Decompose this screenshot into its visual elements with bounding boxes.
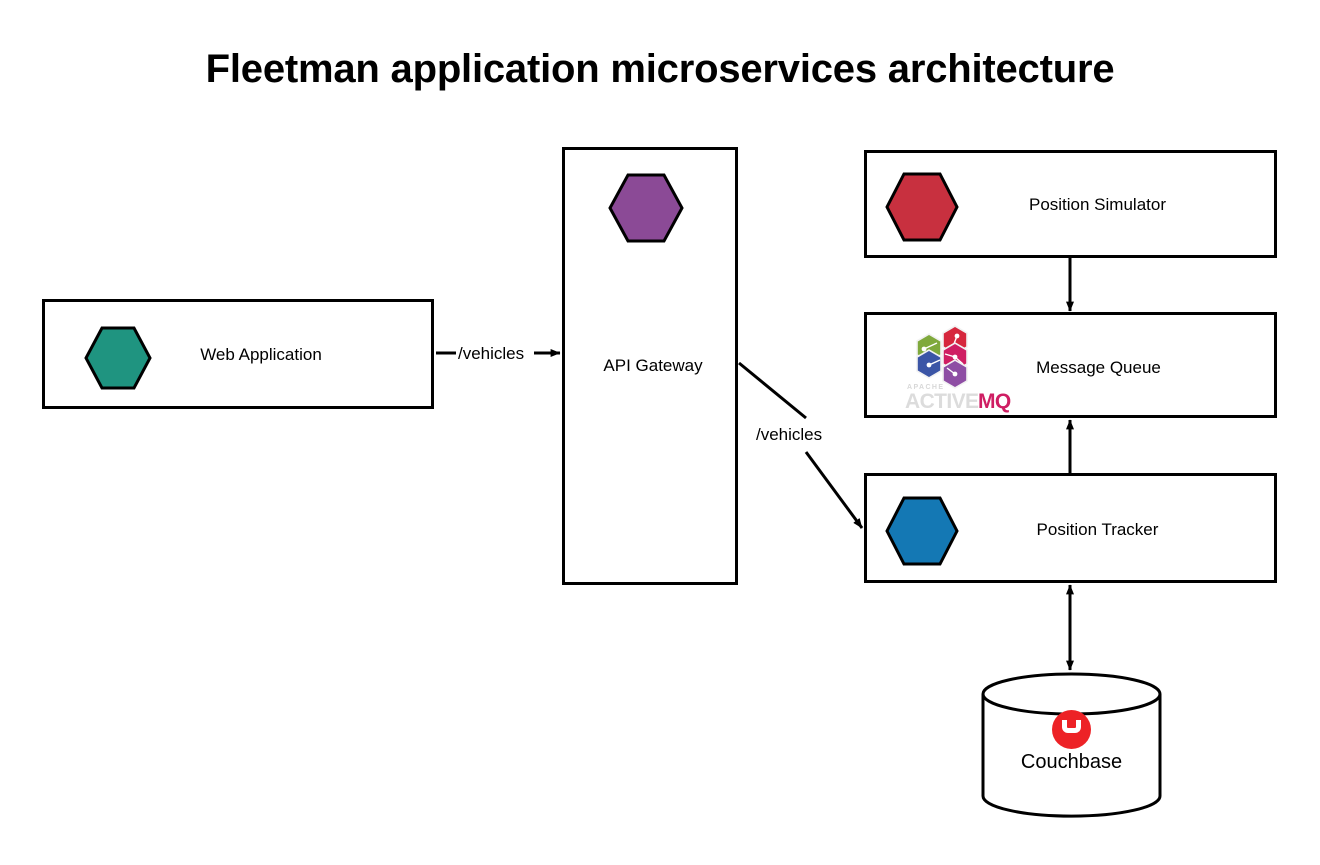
node-label-message-queue: Message Queue xyxy=(867,358,1280,378)
diagram-canvas: Fleetman application microservices archi… xyxy=(0,0,1320,865)
node-label-couchbase: Couchbase xyxy=(980,751,1163,774)
node-position-simulator[interactable]: Position Simulator xyxy=(864,150,1277,258)
node-api-gateway[interactable]: API Gateway xyxy=(562,147,738,585)
activemq-active-text: ACTIVE xyxy=(905,390,978,414)
node-label-position-tracker: Position Tracker xyxy=(867,520,1280,540)
couchbase-logo-icon xyxy=(1052,710,1091,749)
edge-label-webapp-to-gateway: /vehicles xyxy=(457,344,525,364)
couchbase-cup-glyph xyxy=(1062,720,1081,733)
edge-label-gateway-to-tracker: /vehicles xyxy=(755,425,823,445)
page-title: Fleetman application microservices archi… xyxy=(0,47,1320,92)
node-position-tracker[interactable]: Position Tracker xyxy=(864,473,1277,583)
hexagon-icon xyxy=(607,172,685,244)
node-web-application[interactable]: Web Application xyxy=(42,299,434,409)
edge-gateway-to-tracker xyxy=(739,363,862,528)
activemq-mq-text: MQ xyxy=(978,390,1011,414)
node-message-queue[interactable]: APACHE ACTIVE MQ Message Queue xyxy=(864,312,1277,418)
node-label-position-simulator: Position Simulator xyxy=(867,195,1280,215)
node-label-api-gateway: API Gateway xyxy=(565,356,741,376)
node-couchbase[interactable]: Couchbase xyxy=(980,672,1163,818)
node-label-web-application: Web Application xyxy=(45,345,437,365)
